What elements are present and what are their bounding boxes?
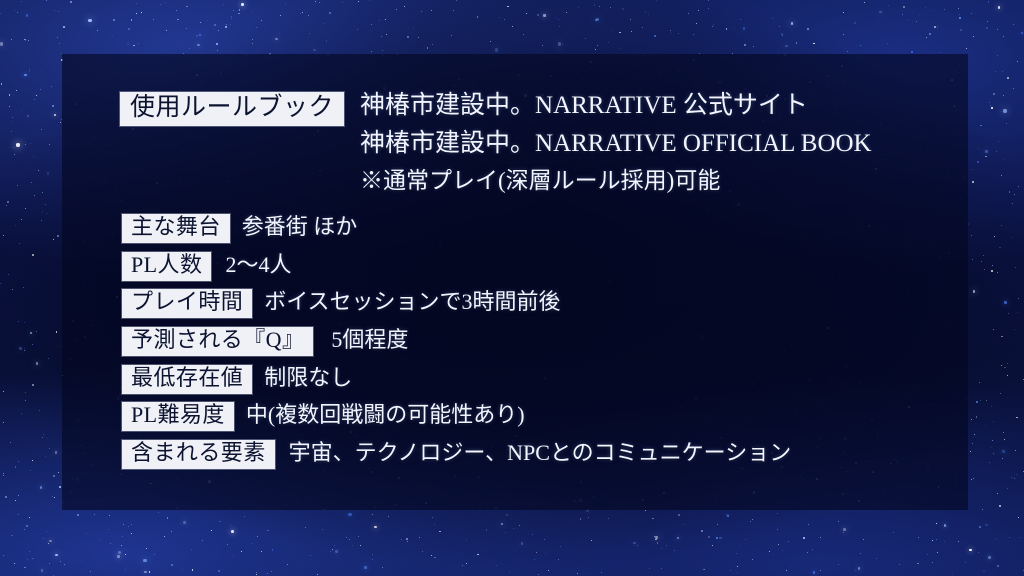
row-label-players: PL人数 — [122, 252, 211, 281]
info-row-minimum-existence: 最低存在値 制限なし — [122, 365, 352, 394]
row-label-stage: 主な舞台 — [122, 214, 230, 243]
row-value-stage: 参番街 ほか — [242, 214, 358, 239]
rulebook-line-1: 神椿市建設中。NARRATIVE 公式サイト — [360, 92, 872, 121]
row-label-elements: 含まれる要素 — [122, 440, 275, 469]
row-label-rulebook: 使用ルールブック — [120, 92, 344, 126]
row-label-difficulty: PL難易度 — [122, 402, 234, 431]
info-row-difficulty: PL難易度 中(複数回戦闘の可能性あり) — [122, 402, 525, 431]
row-value-expected-q: 5個程度 — [331, 327, 408, 352]
row-value-minimum-existence: 制限なし — [264, 365, 352, 390]
info-row-playtime: プレイ時間 ボイスセッションで3時間前後 — [122, 289, 561, 318]
row-label-expected-q: 予測される『Q』 — [122, 327, 313, 356]
info-row-players: PL人数 2〜4人 — [122, 252, 291, 281]
row-values-rulebook: 神椿市建設中。NARRATIVE 公式サイト 神椿市建設中。NARRATIVE … — [360, 92, 872, 194]
row-value-difficulty: 中(複数回戦闘の可能性あり) — [246, 402, 525, 427]
info-row-expected-q: 予測される『Q』 5個程度 — [122, 327, 408, 356]
row-value-players: 2〜4人 — [225, 252, 291, 277]
row-value-elements: 宇宙、テクノロジー、NPCとのコミュニケーション — [289, 440, 792, 465]
scenario-info-slide: 使用ルールブック 神椿市建設中。NARRATIVE 公式サイト 神椿市建設中。N… — [0, 0, 1024, 576]
rulebook-line-2: 神椿市建設中。NARRATIVE OFFICIAL BOOK — [360, 130, 872, 159]
info-row-elements: 含まれる要素 宇宙、テクノロジー、NPCとのコミュニケーション — [122, 440, 791, 469]
rulebook-line-3-note: ※通常プレイ(深層ルール採用)可能 — [360, 168, 872, 194]
row-label-playtime: プレイ時間 — [122, 289, 252, 318]
info-row-stage: 主な舞台 参番街 ほか — [122, 214, 357, 243]
info-row-rulebook: 使用ルールブック 神椿市建設中。NARRATIVE 公式サイト 神椿市建設中。N… — [120, 92, 872, 194]
row-label-minimum-existence: 最低存在値 — [122, 365, 252, 394]
info-rows-container: 使用ルールブック 神椿市建設中。NARRATIVE 公式サイト 神椿市建設中。N… — [0, 0, 1024, 576]
row-value-playtime: ボイスセッションで3時間前後 — [264, 289, 560, 314]
